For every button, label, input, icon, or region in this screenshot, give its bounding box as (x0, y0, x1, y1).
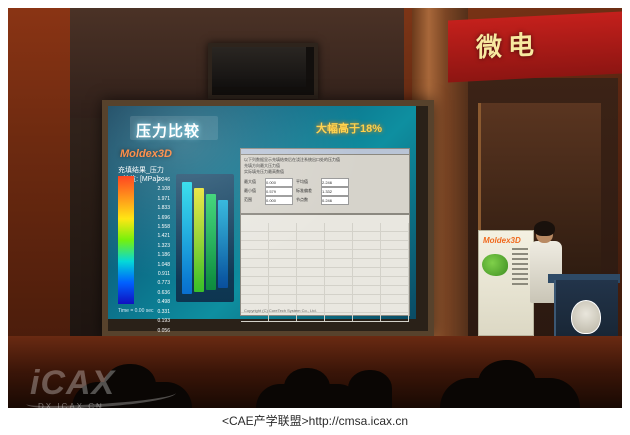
photo-caption: <CAE产学联盟>http://cmsa.icax.cn (8, 410, 622, 430)
podium-emblem (571, 300, 601, 334)
colorbar-value: 0.056 (136, 327, 170, 336)
watermark: iCAX DX.ICAX.CN (30, 364, 170, 408)
conference-photo: 微电 压力比较 大幅高于18% Moldex3D 充填结果_压力 <单位: [M… (8, 8, 622, 408)
rollup-graphic (482, 254, 508, 276)
watermark-subtext: DX.ICAX.CN (38, 402, 104, 408)
banner-text: 微电 (476, 24, 540, 64)
audience-shoulders (256, 384, 362, 408)
audience-shoulders (440, 378, 580, 408)
screen-glare (108, 106, 416, 319)
ceiling-monitor-screen (212, 47, 306, 87)
left-wall (8, 8, 70, 348)
rollup-logo: Moldex3D (483, 236, 521, 245)
presenter-hair (534, 221, 555, 236)
screenshot-root: 微电 压力比较 大幅高于18% Moldex3D 充填结果_压力 <单位: [M… (0, 0, 630, 435)
audience-head (348, 370, 392, 408)
rollup-textlines (512, 248, 528, 318)
